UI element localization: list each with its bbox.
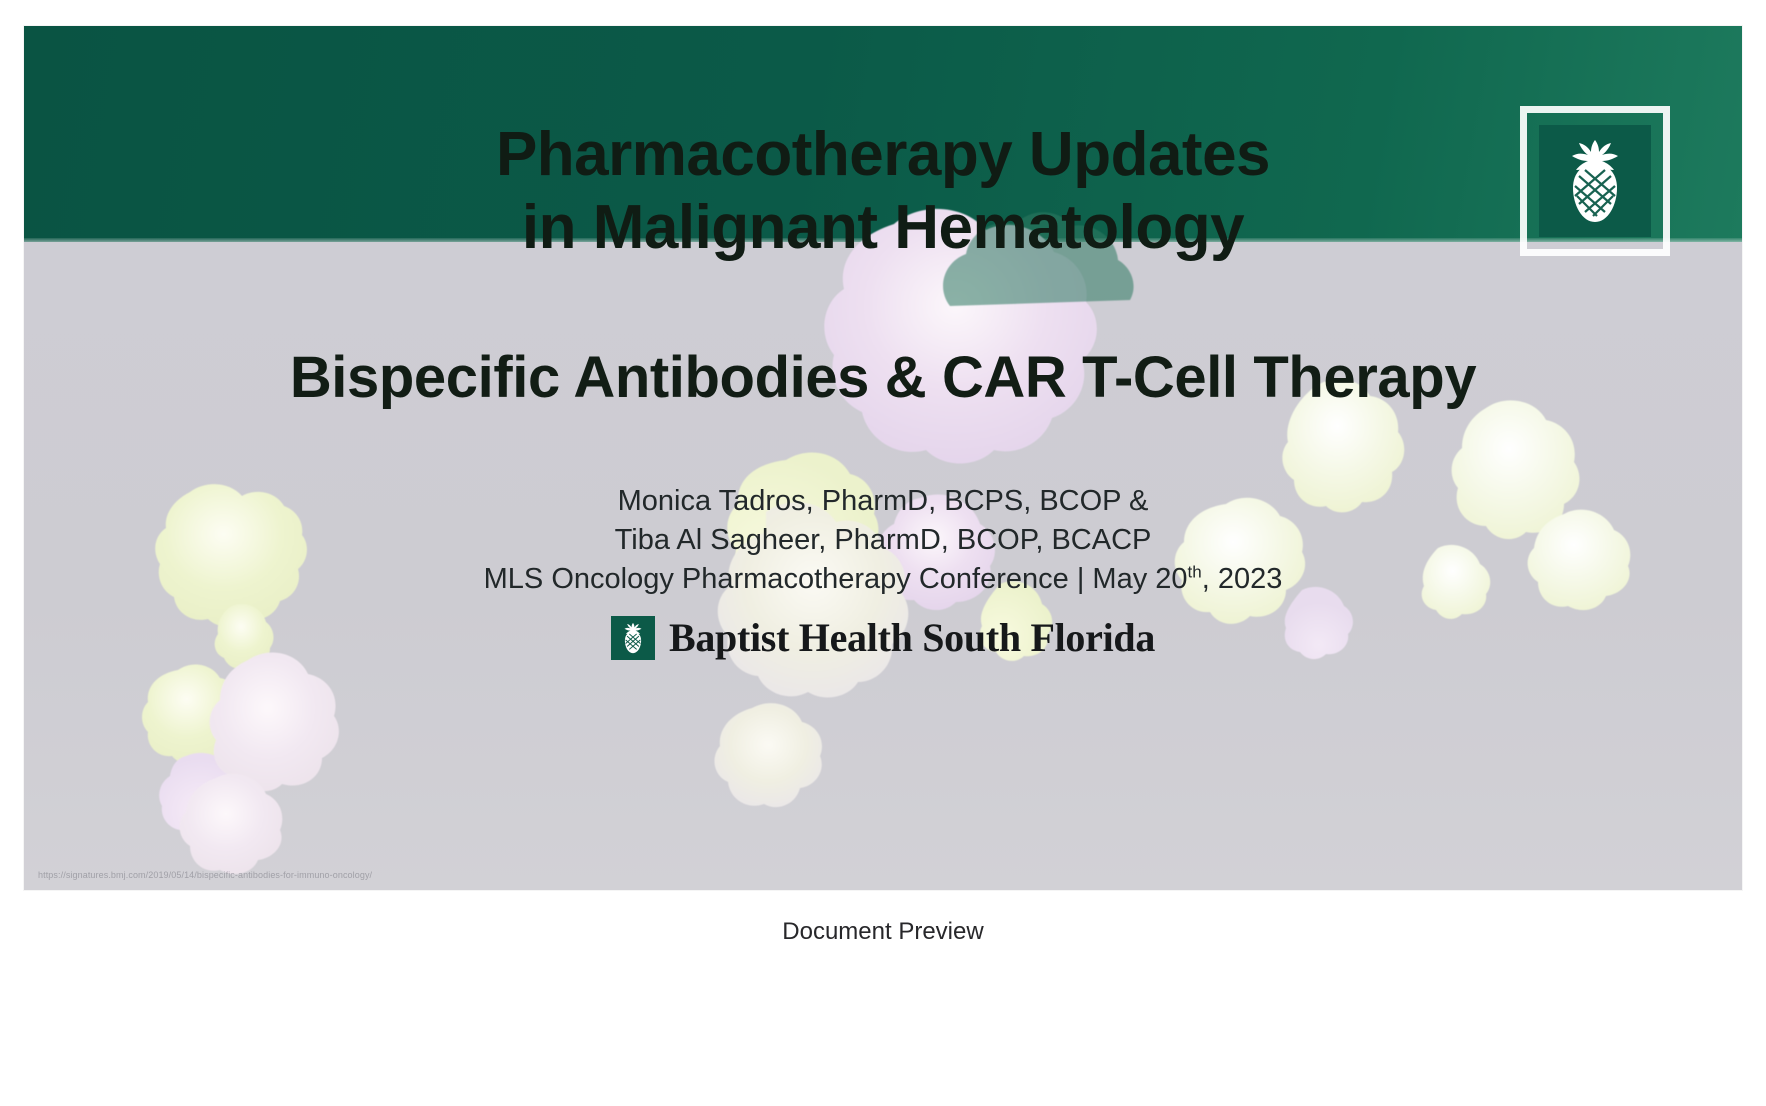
author-line-1: Monica Tadros, PharmD, BCPS, BCOP & [24, 482, 1742, 521]
slide-canvas: Pharmacotherapy Updates in Malignant Hem… [24, 26, 1742, 890]
slide-authors-block: Monica Tadros, PharmD, BCPS, BCOP & Tiba… [24, 482, 1742, 599]
slide-title: Pharmacotherapy Updates in Malignant Hem… [24, 118, 1742, 264]
conference-ordinal: th [1188, 563, 1202, 582]
source-url-text: https://signatures.bmj.com/2019/05/14/bi… [38, 870, 372, 880]
conference-suffix: , 2023 [1202, 563, 1283, 595]
slide-text-layer: Pharmacotherapy Updates in Malignant Hem… [24, 26, 1742, 890]
document-preview-page: Pharmacotherapy Updates in Malignant Hem… [0, 0, 1766, 1106]
author-line-2: Tiba Al Sagheer, PharmD, BCOP, BCACP [24, 521, 1742, 560]
document-preview-caption: Document Preview [0, 918, 1766, 946]
brand-lockup: Baptist Health South Florida [24, 614, 1742, 661]
slide-title-line1: Pharmacotherapy Updates [496, 120, 1270, 189]
brand-name: Baptist Health South Florida [669, 614, 1155, 661]
conference-line: MLS Oncology Pharmacotherapy Conference … [24, 560, 1742, 599]
slide-subtitle: Bispecific Antibodies & CAR T-Cell Thera… [24, 344, 1742, 411]
slide-title-line2: in Malignant Hematology [24, 191, 1742, 264]
brand-pineapple-icon [611, 616, 655, 660]
conference-prefix: MLS Oncology Pharmacotherapy Conference … [484, 563, 1188, 595]
